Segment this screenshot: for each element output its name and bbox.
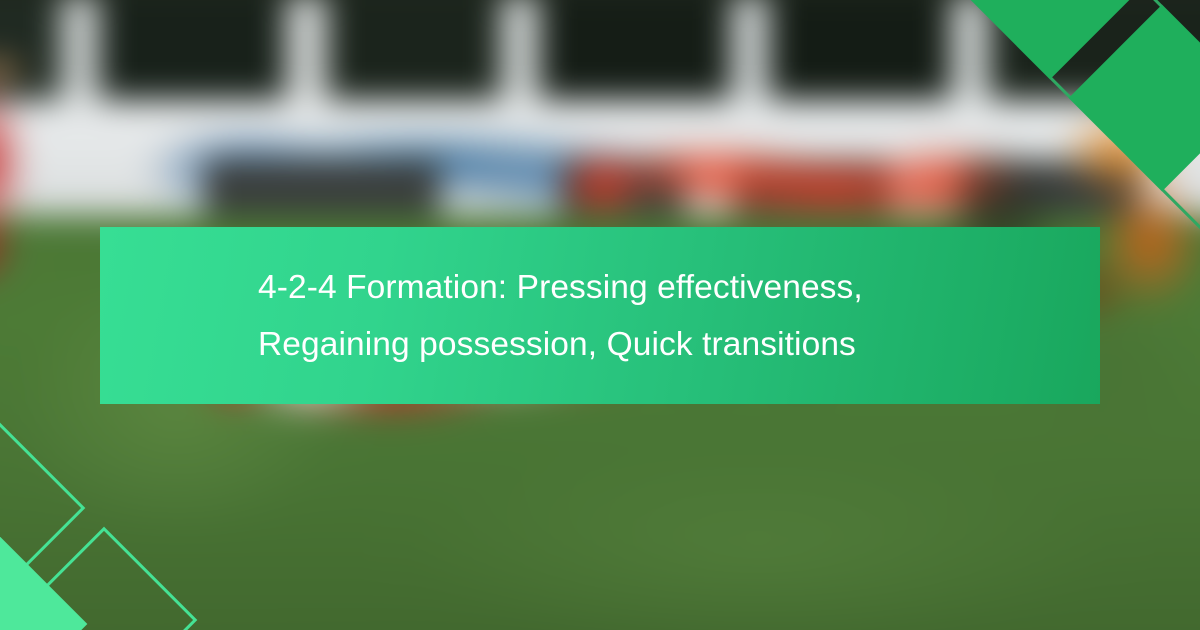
headline-text: 4-2-4 Formation: Pressing effectiveness,… — [100, 259, 903, 373]
chevron-cluster-top-right — [960, 0, 1200, 200]
chevron-cluster-bottom-left — [0, 410, 250, 630]
headline-banner: 4-2-4 Formation: Pressing effectiveness,… — [100, 227, 1100, 404]
photo-player-red-left — [0, 45, 60, 305]
social-card: 4-2-4 Formation: Pressing effectiveness,… — [0, 0, 1200, 630]
